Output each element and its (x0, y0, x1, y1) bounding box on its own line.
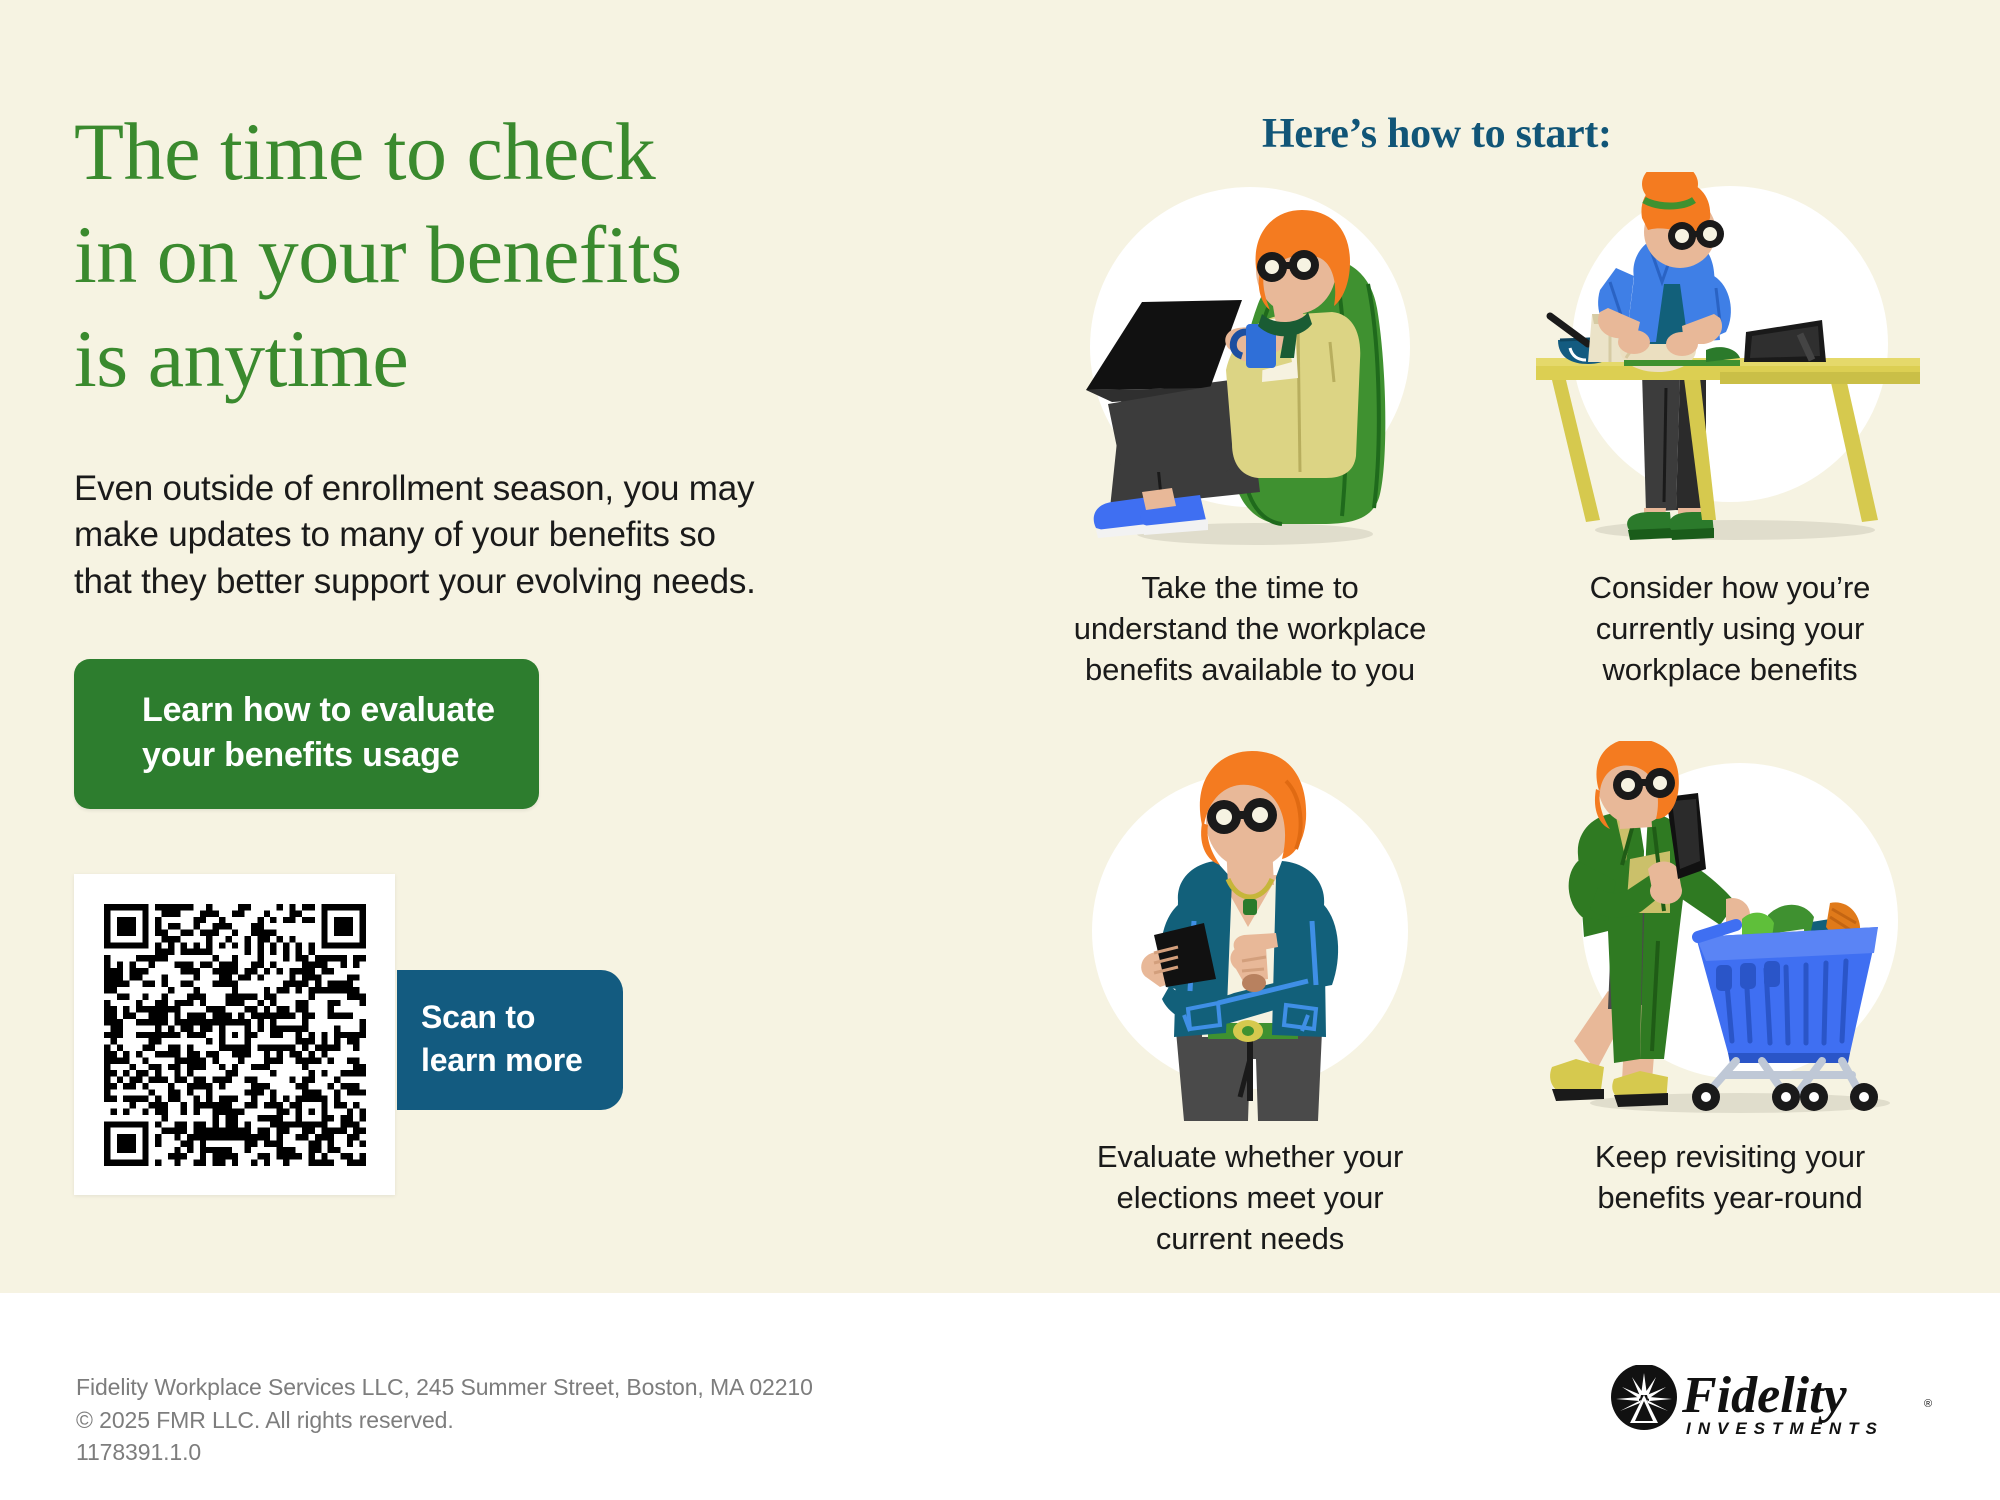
step-caption: Keep revisiting your benefits year-round (1510, 1137, 1950, 1219)
person-with-smartphone-icon (1030, 741, 1470, 1131)
footer: Fidelity Workplace Services LLC, 245 Sum… (0, 1293, 2000, 1500)
step-card-4: Keep revisiting your benefits year-round (1510, 741, 1950, 1260)
step-caption: Evaluate whether your elections meet you… (1030, 1137, 1470, 1260)
qr-code[interactable] (74, 874, 395, 1195)
step-card-2: Consider how you’re currently using your… (1510, 172, 1950, 691)
steps-grid: Take the time to understand the workplac… (1030, 172, 1950, 1259)
step-card-1: Take the time to understand the workplac… (1030, 172, 1470, 691)
fidelity-investments-logo: Fidelity ® INVESTMENTS (1608, 1365, 1938, 1443)
qr-code-image (104, 904, 366, 1166)
infographic-page: The time to check in on your benefits is… (0, 0, 2000, 1500)
logo-wordmark: Fidelity (1681, 1367, 1848, 1424)
hero-subhead: Even outside of enrollment season, you m… (74, 466, 974, 606)
logo-subtext: INVESTMENTS (1686, 1419, 1884, 1438)
person-baking-at-table-with-tablet-icon (1510, 172, 1950, 562)
page-title: The time to check in on your benefits is… (74, 100, 974, 410)
step-caption: Consider how you’re currently using your… (1510, 568, 1950, 691)
hero-column: The time to check in on your benefits is… (74, 100, 974, 809)
person-in-beanbag-with-laptop-icon (1030, 172, 1470, 562)
steps-header: Here’s how to start: (1262, 110, 1612, 158)
learn-how-to-evaluate-button[interactable]: Learn how to evaluate your benefits usag… (74, 659, 539, 809)
step-card-3: Evaluate whether your elections meet you… (1030, 741, 1470, 1260)
step-caption: Take the time to understand the workplac… (1030, 568, 1470, 691)
person-pushing-shopping-cart-icon (1510, 741, 1950, 1131)
scan-to-learn-more-badge: Scan to learn more (397, 970, 623, 1110)
legal-text: Fidelity Workplace Services LLC, 245 Sum… (76, 1371, 813, 1469)
logo-trademark: ® (1924, 1398, 1932, 1410)
